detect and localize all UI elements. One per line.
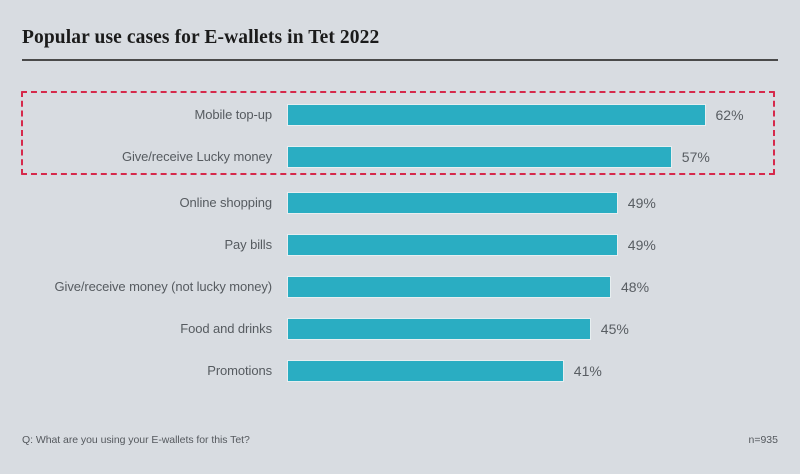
bar-value-label: 45% bbox=[601, 316, 629, 342]
sample-size-label: n=935 bbox=[749, 434, 779, 446]
bar-category-label: Promotions bbox=[0, 358, 272, 384]
bar-category-label: Food and drinks bbox=[0, 316, 272, 342]
title-divider bbox=[22, 59, 778, 61]
chart-card: Popular use cases for E-wallets in Tet 2… bbox=[0, 0, 800, 474]
bar-category-label: Online shopping bbox=[0, 190, 272, 216]
bar-value-label: 48% bbox=[621, 274, 649, 300]
bar-fill bbox=[287, 234, 618, 256]
bar-category-label: Pay bills bbox=[0, 232, 272, 258]
bar-fill bbox=[287, 146, 672, 168]
table-row: Promotions 41% bbox=[0, 358, 800, 384]
table-row: Give/receive Lucky money 57% bbox=[0, 144, 800, 170]
bar-category-label: Give/receive Lucky money bbox=[0, 144, 272, 170]
bar-fill bbox=[287, 104, 706, 126]
chart-footer: Q: What are you using your E-wallets for… bbox=[22, 434, 778, 450]
bar-value-label: 49% bbox=[628, 190, 656, 216]
table-row: Give/receive money (not lucky money) 48% bbox=[0, 274, 800, 300]
bar-track: 48% bbox=[287, 274, 787, 300]
table-row: Food and drinks 45% bbox=[0, 316, 800, 342]
bar-category-label: Give/receive money (not lucky money) bbox=[0, 274, 272, 300]
bar-category-label: Mobile top-up bbox=[0, 102, 272, 128]
title-block: Popular use cases for E-wallets in Tet 2… bbox=[22, 26, 778, 61]
bar-track: 62% bbox=[287, 102, 787, 128]
bar-track: 45% bbox=[287, 316, 787, 342]
bar-value-label: 49% bbox=[628, 232, 656, 258]
bar-fill bbox=[287, 360, 564, 382]
survey-question-text: Q: What are you using your E-wallets for… bbox=[22, 434, 250, 446]
bar-track: 49% bbox=[287, 232, 787, 258]
table-row: Pay bills 49% bbox=[0, 232, 800, 258]
bar-track: 49% bbox=[287, 190, 787, 216]
bar-fill bbox=[287, 318, 591, 340]
bar-chart-plot-area: Mobile top-up 62% Give/receive Lucky mon… bbox=[0, 90, 800, 400]
bar-track: 57% bbox=[287, 144, 787, 170]
page-title: Popular use cases for E-wallets in Tet 2… bbox=[22, 26, 778, 50]
table-row: Mobile top-up 62% bbox=[0, 102, 800, 128]
bar-value-label: 62% bbox=[716, 102, 744, 128]
bar-fill bbox=[287, 192, 618, 214]
bar-value-label: 41% bbox=[574, 358, 602, 384]
table-row: Online shopping 49% bbox=[0, 190, 800, 216]
bar-fill bbox=[287, 276, 611, 298]
bar-value-label: 57% bbox=[682, 144, 710, 170]
bar-track: 41% bbox=[287, 358, 787, 384]
